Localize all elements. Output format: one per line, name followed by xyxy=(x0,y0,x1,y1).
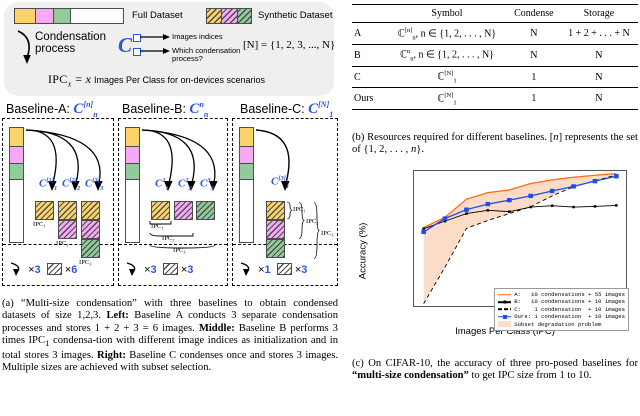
row-ours-sym-sup: [N] xyxy=(444,92,453,99)
chart-y-tickmark xyxy=(413,198,414,199)
panel-a-ipc3-label: IPC₃ xyxy=(79,259,92,266)
row-b-sym-rest: , n ∈ {1, 2, . . . , N} xyxy=(413,50,494,61)
row-a-name: A xyxy=(352,23,386,45)
images-indices-label: Images indices xyxy=(172,33,223,41)
panel-a-sq-1-y xyxy=(35,201,54,220)
chart-y-tickmark xyxy=(413,231,414,232)
caption-a: (a) “Multi-size condensation” with three… xyxy=(2,298,338,375)
legend-label-a: A: xyxy=(514,291,521,298)
chart-marker xyxy=(487,209,490,211)
baseline-b-sup: n xyxy=(199,100,203,109)
chart-x-tickmark xyxy=(466,306,467,307)
set-definition-label: [N] = {1, 2, 3, ..., N} xyxy=(243,39,335,51)
chart-marker xyxy=(593,179,598,183)
legend-swatch-fill xyxy=(498,321,511,327)
chart-marker xyxy=(551,205,554,207)
baseline-b-title-text: Baseline-B: xyxy=(122,102,186,116)
panel-b-ipc3-label: IPC₃ xyxy=(173,247,186,254)
table-header-row: Symbol Condense Storage xyxy=(352,5,638,23)
panel-c-sq-p xyxy=(266,220,285,239)
panel-b-label-1: C11 xyxy=(155,177,169,192)
pa-l2-sup: [2] xyxy=(69,177,77,184)
panel-a-sq-3-p xyxy=(81,220,100,239)
chart-legend: A: 10 condensations + 55 images B: 10 co… xyxy=(494,288,629,331)
chart-marker xyxy=(465,212,468,214)
panel-a-cond-count: 3 xyxy=(35,264,41,276)
baseline-b-symbol-base: C xyxy=(189,101,199,117)
pb-l2-sup: 2 xyxy=(185,177,188,184)
row-c-symbol: ℂ[N]1 xyxy=(386,66,508,88)
caption-c: (c) On CIFAR-10, the accuracy of three p… xyxy=(352,358,638,383)
legend-label-ours: Ours: xyxy=(514,313,531,320)
row-ours-sym-sub: 1 xyxy=(453,99,456,106)
baseline-b-symbol: Cnn xyxy=(189,101,208,117)
chart-marker xyxy=(421,230,426,234)
synthetic-dataset-bar xyxy=(206,8,252,24)
baseline-a-title: Baseline-A: C[n]n xyxy=(6,100,98,119)
pb-l1-sup: 1 xyxy=(162,177,165,184)
legend-row-c: C: 1 condensation + 10 images xyxy=(498,306,625,313)
panel-b-footer-arrow-icon xyxy=(125,261,141,277)
table-row: C ℂ[N]1 1 N xyxy=(352,66,638,88)
chart-marker xyxy=(508,210,511,212)
row-b-condense: N xyxy=(508,45,560,67)
chart-marker xyxy=(571,184,576,188)
baseline-c-symbol-base: C xyxy=(308,101,318,117)
legend-text-ours: 1 condensation + 10 images xyxy=(534,313,625,320)
baseline-a-symbol-base: C xyxy=(73,101,83,117)
baseline-b-panel: C11 C22 C33 IPC₁ IPC₂ IPC₃ ×3 ×3 xyxy=(118,118,228,286)
panel-c-hatch-icon xyxy=(277,263,292,275)
panel-a-img-count: 6 xyxy=(71,264,77,276)
pc-l1-sup: [3] xyxy=(278,175,286,182)
legend-row-b: B: 10 condensations + 10 images xyxy=(498,298,625,305)
row-c-sym-sup: [N] xyxy=(444,70,453,77)
pb-l1-sub: 1 xyxy=(166,185,169,192)
panel-c-footer: ×1 ×3 xyxy=(239,261,307,277)
chart-marker xyxy=(422,227,425,229)
panel-a-ipc2-label: IPC₂ xyxy=(56,240,69,247)
th-condense: Condense xyxy=(508,5,560,23)
table-row: Ours ℂ[N]1 1 N xyxy=(352,88,638,110)
row-c-storage: N xyxy=(560,66,638,88)
panel-a-hatch-icon xyxy=(47,263,62,275)
pa-l3-sup: [3] xyxy=(92,177,100,184)
row-b-sym-base: ℂ xyxy=(400,50,407,61)
legend-label-c: C: xyxy=(514,306,521,313)
legend-row-fill: Subset degradation problem xyxy=(498,321,625,328)
chart-marker xyxy=(614,174,619,178)
panel-a-label-2: C[2]2 xyxy=(62,177,80,192)
full-dataset-bar xyxy=(14,8,124,24)
panel-b-ipc1-label: IPC₁ xyxy=(151,223,164,230)
panel-b-sq-g xyxy=(196,201,215,220)
panel-a-footer: ×3 ×6 xyxy=(9,261,77,277)
which-condensation-label: Which condensation process? xyxy=(172,47,240,63)
callout-arrows-icon xyxy=(139,31,171,57)
row-a-condense: N xyxy=(508,23,560,45)
panel-b-footer: ×3 ×3 xyxy=(125,261,193,277)
panel-b-label-3: C33 xyxy=(200,177,214,192)
table-row: A ℂ[n]n, n ∈ {1, 2, . . . , N} N 1 + 2 +… xyxy=(352,23,638,45)
legend-swatch-c xyxy=(498,306,511,313)
c-symbol-glyph: C xyxy=(118,33,132,58)
baseline-a-title-text: Baseline-A: xyxy=(6,102,70,116)
panel-c-img-count: 3 xyxy=(301,264,307,276)
pa-l2-sub: 2 xyxy=(77,185,80,192)
panel-c-arrow-icon xyxy=(251,127,311,201)
accuracy-chart: 303540455055606512345678910 Accuracy (%)… xyxy=(379,168,631,333)
th-storage: Storage xyxy=(560,5,638,23)
figure-a-panel: Full Dataset Synthetic Dataset Condensat… xyxy=(0,0,340,416)
panel-a-sq-2-y xyxy=(58,201,77,220)
resources-table-element: Symbol Condense Storage A ℂ[n]n, n ∈ {1,… xyxy=(352,4,638,110)
resources-table: Symbol Condense Storage A ℂ[n]n, n ∈ {1,… xyxy=(352,4,638,110)
legend-text-a: 10 condensations + 55 images xyxy=(531,291,625,298)
chart-marker xyxy=(550,189,555,193)
legend-row-a: A: 10 condensations + 55 images xyxy=(498,291,625,298)
row-c-sym-sub: 1 xyxy=(453,77,456,84)
panel-b-sq-p xyxy=(174,201,193,220)
panel-b-img-count: 3 xyxy=(187,264,193,276)
legend-label-b: B: xyxy=(514,298,521,305)
panel-a-sq-3-g xyxy=(81,239,100,258)
pc-l1-sub: 1 xyxy=(286,183,289,190)
ipc-subscript: x xyxy=(68,79,72,88)
row-a-symbol: ℂ[n]n, n ∈ {1, 2, . . . , N} xyxy=(386,23,508,45)
pa-l3-sub: 3 xyxy=(100,185,103,192)
baseline-c-panel: C[3]1 IPC₁ IPC₂ IPC₃ ×1 ×3 xyxy=(232,118,338,286)
chart-marker xyxy=(615,204,618,206)
chart-svg xyxy=(414,171,626,306)
ipc-equals: = x xyxy=(75,72,91,86)
panel-a-ipc1-label: IPC₁ xyxy=(33,221,46,228)
pb-l3-sub: 3 xyxy=(211,185,214,192)
baseline-c-title: Baseline-C: C[N]1 xyxy=(240,100,333,119)
chart-y-tickmark xyxy=(413,280,414,281)
chart-y-tickmark xyxy=(413,247,414,248)
row-a-storage: 1 + 2 + . . . + N xyxy=(560,23,638,45)
chart-marker xyxy=(464,208,469,212)
panel-a-sq-2-p xyxy=(58,220,77,239)
chart-x-tickmark xyxy=(445,306,446,307)
panel-c-label-1: C[3]1 xyxy=(271,175,289,190)
synthetic-dataset-label: Synthetic Dataset xyxy=(258,10,332,21)
chart-marker xyxy=(443,216,448,220)
row-a-sym-rest: , n ∈ {1, 2, . . . , N} xyxy=(416,28,497,39)
chart-y-tickmark xyxy=(413,263,414,264)
panel-b-hatch-icon xyxy=(163,263,178,275)
baseline-b-title: Baseline-B: Cnn xyxy=(122,100,208,119)
legend-swatch-b xyxy=(498,299,511,306)
chart-x-tickmark xyxy=(424,306,425,307)
table-row: B ℂnn, n ∈ {1, 2, . . . , N} N N xyxy=(352,45,638,67)
legend-text-c: 1 condensation + 10 images xyxy=(531,306,625,313)
th-blank xyxy=(352,5,386,23)
panel-c-ipc1-label: IPC₁ xyxy=(293,206,306,213)
panel-c-ipc2-label: IPC₂ xyxy=(306,218,319,225)
th-symbol: Symbol xyxy=(386,5,508,23)
row-c-condense: 1 xyxy=(508,66,560,88)
panel-c-ipc3-label: IPC₃ xyxy=(321,230,334,237)
which-cond-l2: process? xyxy=(172,54,203,63)
row-c-name: C xyxy=(352,66,386,88)
condensation-line-1: Condensation xyxy=(35,31,106,43)
chart-y-tickmark xyxy=(413,214,414,215)
subset-degradation-fill xyxy=(424,174,617,304)
pb-l3-sup: 3 xyxy=(207,177,210,184)
legend-text-fill: Subset degradation problem xyxy=(514,321,601,328)
baseline-c-symbol: C[N]1 xyxy=(308,101,333,117)
row-a-sym-base: ℂ xyxy=(398,28,405,39)
row-b-storage: N xyxy=(560,45,638,67)
baseline-c-title-text: Baseline-C: xyxy=(240,102,305,116)
pa-l1-sup: [1] xyxy=(46,177,54,184)
baseline-a-symbol: C[n]n xyxy=(73,101,97,117)
chart-marker xyxy=(507,198,512,202)
ipc-formula-line: IPCx = x Images Per Class for on-devices… xyxy=(48,72,265,88)
row-ours-storage: N xyxy=(560,88,638,110)
panel-a-sq-3-y xyxy=(81,201,100,220)
row-b-sym-sup: n xyxy=(407,48,410,55)
condensation-line-2: process xyxy=(35,43,106,55)
panel-b-cond-count: 3 xyxy=(151,264,157,276)
chart-marker xyxy=(528,194,533,198)
legend-row-ours: Ours: 1 condensation + 10 images xyxy=(498,313,625,320)
panel-a-footer-arrow-icon xyxy=(9,261,25,277)
pa-l1-sub: 1 xyxy=(54,185,57,192)
chart-marker xyxy=(486,202,491,206)
baseline-c-sup: [N] xyxy=(318,100,329,109)
baseline-a-panel: C[1]1 C[2]2 C[3]3 IPC₁ IPC₂ IPC₃ ×3 ×6 xyxy=(2,118,114,286)
row-ours-condense: 1 xyxy=(508,88,560,110)
legend-swatch-ours xyxy=(498,313,511,320)
panel-b-ipc2-label: IPC₂ xyxy=(162,235,175,242)
panel-c-sq-y xyxy=(266,201,285,220)
ipc-text: IPC xyxy=(48,72,68,86)
chart-marker xyxy=(594,205,597,207)
panel-a-label-3: C[3]3 xyxy=(85,177,103,192)
chart-y-tickmark xyxy=(413,181,414,182)
ipc-description: Images Per Class for on-devices scenario… xyxy=(94,75,265,85)
row-ours-symbol: ℂ[N]1 xyxy=(386,88,508,110)
baseline-a-sup: [n] xyxy=(83,100,93,109)
row-ours-name: Ours xyxy=(352,88,386,110)
panel-c-sq-g xyxy=(266,239,285,258)
panel-a-label-1: C[1]1 xyxy=(39,177,57,192)
chart-x-tickmark xyxy=(488,306,489,307)
legend-swatch-a xyxy=(498,291,511,298)
condensation-process-text: Condensation process xyxy=(35,31,106,55)
chart-y-tickmark xyxy=(413,296,414,297)
legend-text-b: 10 condensations + 10 images xyxy=(531,298,625,305)
row-b-symbol: ℂnn, n ∈ {1, 2, . . . , N} xyxy=(386,45,508,67)
row-a-sym-sup: [n] xyxy=(405,27,413,34)
full-dataset-label: Full Dataset xyxy=(132,10,183,21)
panel-c-footer-arrow-icon xyxy=(239,261,255,277)
chart-marker xyxy=(572,206,575,208)
caption-b: (b) Resources required for different bas… xyxy=(352,132,638,157)
chart-plot-area: 303540455055606512345678910 xyxy=(413,170,627,307)
row-b-name: B xyxy=(352,45,386,67)
ipc-formula-head: IPCx xyxy=(48,72,72,86)
pb-l2-sub: 2 xyxy=(189,185,192,192)
panel-b-sq-y xyxy=(151,201,170,220)
panel-c-cond-count: 1 xyxy=(265,264,271,276)
chart-y-axis-label: Accuracy (%) xyxy=(358,222,369,278)
panel-b-label-2: C22 xyxy=(178,177,192,192)
